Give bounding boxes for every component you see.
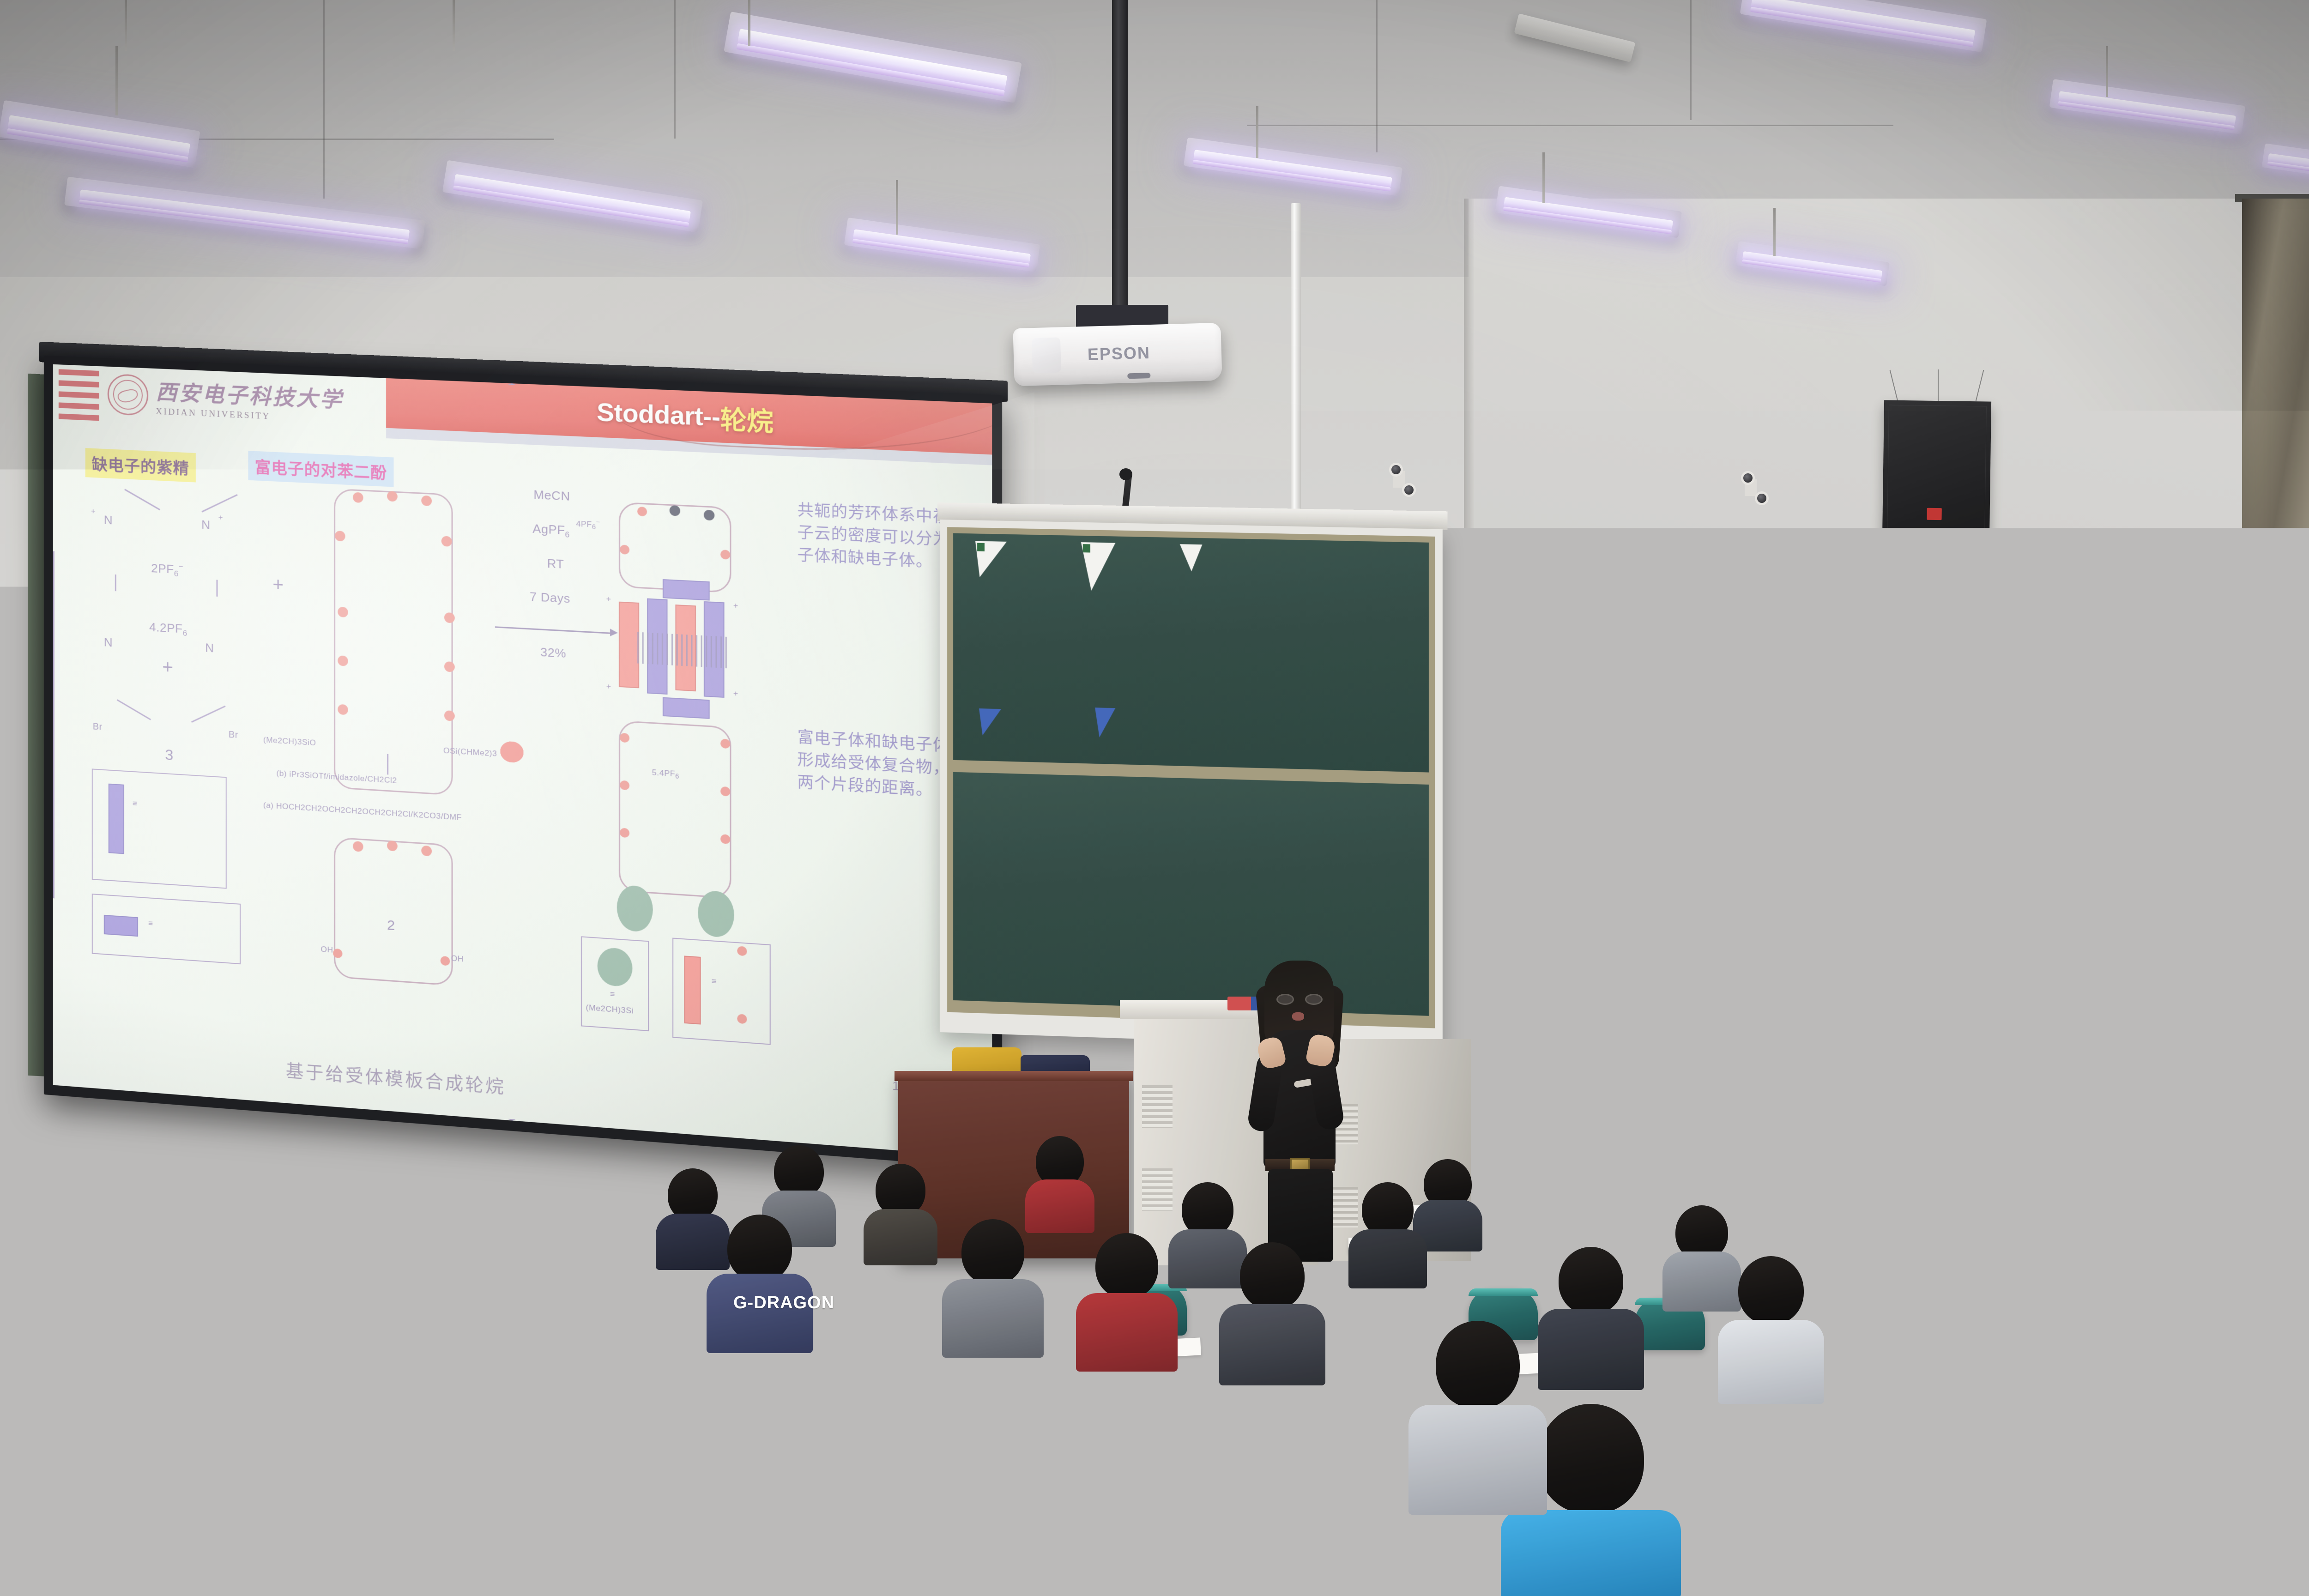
audience-member [1025,1136,1094,1233]
light-hanger [1773,208,1776,256]
slide-title-latin: Stoddart-- [597,397,720,432]
jacket-text: G-DRAGON [733,1293,834,1313]
audience-member [1718,1256,1824,1404]
chalkboard-panel-upper [947,527,1435,785]
calligraphy-paper: 学海 无涯 西安书法 [1868,731,2024,886]
paper-sheet [808,1338,864,1356]
oxygen-dot [737,946,747,956]
audience-member [1219,1242,1325,1385]
wall-camera [1741,471,1773,513]
calligraphy-mat: 学海 无涯 西安书法 [1857,721,2034,896]
speaker-mount-bracket [1916,539,1960,563]
calligraphy-frame: 学海 无涯 西安书法 [1853,717,2038,901]
radiator [2258,1076,2309,1141]
chair-back [2291,1145,2309,1190]
microphone-head [1119,468,1132,480]
lecture-hall-photo: 西安电子科技大学 XIDIAN UNIVERSITY Stoddart-- 轮烷… [0,0,2309,1596]
wall-socket-box [1728,764,1749,782]
calligraphy-corner-seal [2009,783,2015,792]
speaker-suspension-wires [1893,369,1981,402]
audience-member [785,1362,924,1556]
calligraphy-seal-2 [1881,844,1892,855]
light-hanger [125,0,127,51]
audience-member-front [905,1399,1053,1596]
right-wall [1469,199,2309,1215]
calligraphy-signature: 西安书法 [1880,752,1894,796]
audience-member-raised-arm [1607,1104,1667,1173]
audience-member [1076,1233,1178,1372]
wall-speaker-small [1916,617,1972,676]
slide-content: 西安电子科技大学 XIDIAN UNIVERSITY Stoddart-- 轮烷… [53,364,992,1158]
slide-decor-bars [59,369,99,421]
light-hanger [453,0,455,51]
projector-lens [1032,337,1061,373]
bond [124,489,160,510]
light-hanger [115,46,118,115]
wall-speaker [1882,400,1991,540]
audience-member [864,1164,937,1265]
audience-member [1408,1321,1547,1515]
light-hanger [2106,46,2108,97]
audience-member-front [2004,1464,2189,1596]
calligraphy-text: 学海 [1962,738,2017,851]
fan-mount-arm [1709,702,1716,794]
paper-scrap-blue [979,708,1001,736]
tag-electron-poor: 缺电子的紫精 [85,448,196,482]
audience-member [1348,1182,1427,1288]
legend-ring-red [53,907,93,955]
audience-member-front [2180,1427,2309,1596]
ceiling-seam [1247,125,1893,126]
ceiling-seam [1690,0,1692,120]
paper-scrap [975,541,1007,578]
audience-member [2013,1288,2124,1445]
slide-title-zh: 轮烷 [720,399,773,439]
audience-member-front [1672,1492,1847,1596]
audience-member [1510,1155,1579,1247]
fan-pull-cord [1696,734,1697,887]
projector-brand-label: EPSON [1087,343,1150,364]
audience-member [92,1307,212,1473]
audience-member [1875,1275,1986,1427]
projector: EPSON [1013,323,1222,387]
paper-scrap [1180,544,1203,571]
window-curtain [2242,199,2309,674]
ceiling-seam [323,0,325,199]
audience-member [2050,1150,2124,1251]
audience-member [1778,1122,1847,1219]
paper-scrap-blue [1095,707,1115,738]
university-seal-icon [108,374,148,416]
atom-label-n: N [104,513,113,527]
ceiling-seam [1376,0,1378,152]
projector-vent [1127,373,1150,379]
mouth [1292,1012,1304,1021]
chair-back [1053,1395,1130,1453]
light-hanger [1256,106,1258,158]
audience-member-purple-jacket [1058,1445,1233,1596]
audience-member-blue-jacket [619,1418,776,1596]
glasses-icon [1276,994,1323,1006]
audience-member-gdragon [707,1215,813,1353]
light-hanger [1542,152,1545,203]
wall-camera [1389,463,1421,504]
university-logo: 西安电子科技大学 XIDIAN UNIVERSITY [108,373,344,425]
audience-member [2198,1173,2277,1279]
audience-member [2254,1284,2309,1413]
projector-mount-pole [1112,0,1128,314]
frame-hanging-hook [1942,692,1943,718]
fan-hub [1662,688,1686,712]
light-hanger [896,180,898,235]
light-hanger [748,0,750,46]
audience-member [942,1219,1044,1358]
cabinet-vent [1142,1085,1173,1128]
calligraphy-text-2: 无涯 [1907,738,1963,851]
paper-scrap [1081,542,1116,591]
charge-plus: + [91,507,96,516]
projection-screen: 西安电子科技大学 XIDIAN UNIVERSITY Stoddart-- 轮烷… [44,356,1002,1169]
lecturer [1242,961,1358,1256]
chalkboard-panel-lower [947,772,1435,1028]
chair-back [2124,1224,2194,1275]
audience-member-front [453,1441,605,1596]
audience-member [1538,1247,1644,1390]
chalkboard [940,520,1443,1049]
audience-member-front [277,1469,434,1596]
calligraphy-seal [1881,828,1892,840]
ceiling-seam [674,0,676,139]
speaker-brand-badge [1927,508,1941,520]
